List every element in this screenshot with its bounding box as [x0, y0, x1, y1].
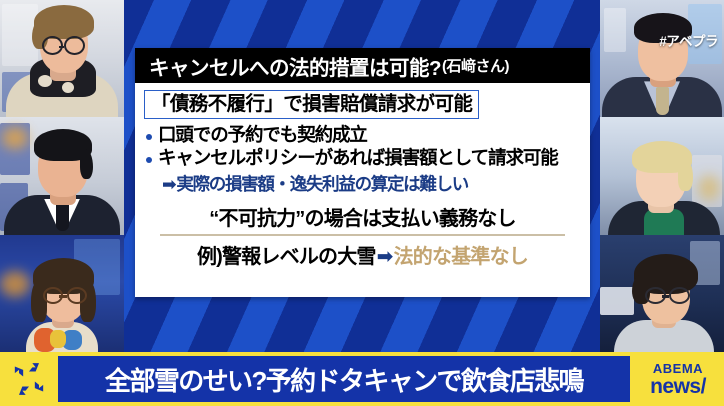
participant-tile-middle-right[interactable] — [600, 117, 724, 234]
logo-news-text: news/ — [650, 376, 706, 397]
headline-text: 全部雪のせい?予約ドタキャンで飲食店悲鳴 — [105, 361, 583, 398]
arrow-right-icon-2: ➡ — [377, 246, 393, 268]
headline-strip: 全部雪のせい?予約ドタキャンで飲食店悲鳴 — [58, 356, 630, 402]
arrow-right-icon: ➡ — [162, 174, 175, 194]
example-line: 例)警報レベルの大雪➡法的な基準なし — [144, 240, 581, 269]
card-title-main: キャンセルへの法的措置は可能? — [149, 51, 441, 81]
right-participant-column — [600, 0, 724, 352]
participant-tile-bottom-left[interactable] — [0, 235, 124, 352]
participant-tile-bottom-right[interactable] — [600, 235, 724, 352]
arrow-note-line: ➡実際の損害額・逸失利益の算定は難しい — [162, 171, 581, 196]
boxed-heading: 「債務不履行」で損害賠償請求が可能 — [144, 90, 479, 119]
left-participant-column — [0, 0, 124, 352]
logo-abema-text: ABEMA — [653, 362, 703, 375]
divider-rule — [160, 234, 565, 236]
list-item: キャンセルポリシーがあれば損害額として請求可能 — [144, 147, 581, 170]
info-card: キャンセルへの法的措置は可能? (石﨑さん) 「債務不履行」で損害賠償請求が可能… — [135, 48, 590, 297]
participant-tile-top-right[interactable] — [600, 0, 724, 117]
broadcast-screen: #アベプラ キャンセルへの法的措置は可能? (石﨑さん) 「債務不履行」で損害賠… — [0, 0, 724, 406]
card-title-bar: キャンセルへの法的措置は可能? (石﨑さん) — [135, 48, 590, 83]
example-text: 例)警報レベルの大雪 — [197, 246, 376, 268]
card-title-source: (石﨑さん) — [442, 55, 509, 76]
participant-tile-middle-left[interactable] — [0, 117, 124, 234]
bullet-list: 口頭での予約でも契約成立 キャンセルポリシーがあれば損害額として請求可能 — [144, 124, 581, 170]
arrow-note-text: 実際の損害額・逸失利益の算定は難しい — [176, 174, 468, 194]
bottom-banner: 全部雪のせい?予約ドタキャンで飲食店悲鳴 ABEMA news/ — [0, 352, 724, 406]
force-majeure-line: “不可抗力”の場合は支払い義務なし — [144, 202, 581, 231]
list-item: 口頭での予約でも契約成立 — [144, 124, 581, 147]
refresh-loop-icon — [0, 352, 58, 406]
card-body: 「債務不履行」で損害賠償請求が可能 口頭での予約でも契約成立 キャンセルポリシー… — [135, 83, 590, 269]
abema-news-logo: ABEMA news/ — [632, 352, 724, 406]
hashtag-overlay: #アベプラ — [659, 30, 718, 50]
example-conclusion: 法的な基準なし — [394, 246, 528, 268]
participant-tile-top-left[interactable] — [0, 0, 124, 117]
